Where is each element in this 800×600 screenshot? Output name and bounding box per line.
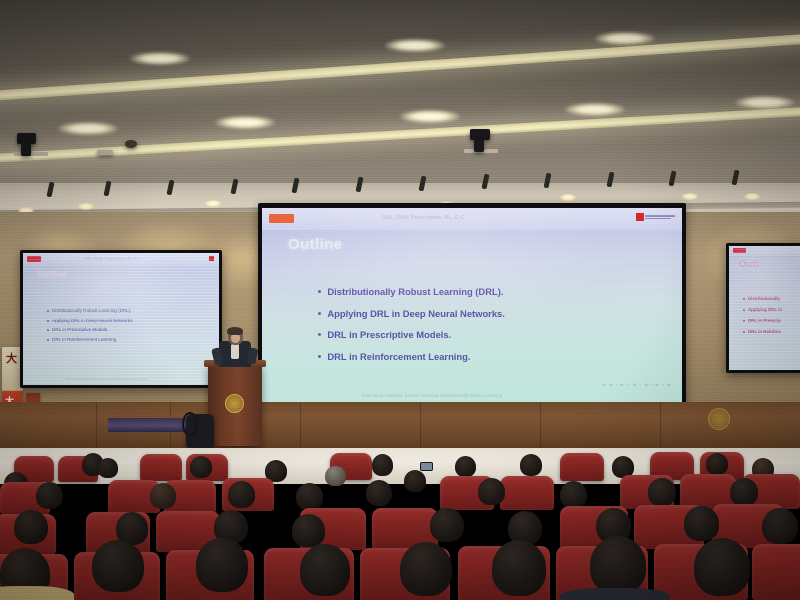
audience-head-foreground	[300, 544, 350, 596]
bullet-text: Distributionally Robust Learning (DRL).	[327, 286, 503, 297]
downlight	[205, 200, 221, 207]
list-item: DRL in Prescrip	[743, 318, 782, 323]
bullet-dot-icon	[743, 309, 745, 311]
bullet-dot-icon	[47, 339, 49, 341]
logo-text-line	[645, 218, 671, 220]
downlight	[744, 193, 760, 200]
list-item: DRL in Reinforcement Learning.	[318, 351, 505, 362]
light-hotspot	[385, 39, 445, 52]
seat[interactable]	[500, 476, 554, 510]
audience-head-foreground	[92, 540, 144, 592]
right-projection-screen-frame: Outl Distributionally Applying DRL in DR…	[726, 243, 800, 373]
audience-head	[430, 508, 464, 542]
audience-head	[648, 478, 676, 506]
audience-head	[98, 458, 118, 478]
left-slide-bullets: Distributionally Robust Learning (DRL). …	[47, 308, 134, 342]
light-hotspot	[58, 122, 118, 135]
list-item: DRL in Reinforc	[743, 329, 782, 334]
backpack-strap	[182, 412, 198, 436]
logo-text-line	[645, 215, 675, 217]
light-hotspot	[400, 110, 460, 123]
main-slide-header-text: DRL, DNN, Prescriptive, RL, E-C	[382, 215, 464, 221]
bullet-text: Distributionally	[748, 296, 780, 301]
audience-shoulders	[560, 588, 670, 600]
bullet-dot-icon	[743, 331, 745, 333]
wood-panel-seam	[540, 402, 541, 454]
audience-head	[150, 483, 176, 509]
list-item: DRL in Prescriptive Models.	[318, 329, 505, 340]
wood-panel-seam	[660, 402, 661, 454]
main-slide: DRL, DNN, Prescriptive, RL, E-C Outline …	[262, 208, 682, 402]
audience-head	[190, 456, 212, 478]
bullet-dot-icon	[743, 298, 745, 300]
ceiling-projector-lens	[21, 143, 31, 156]
bullet-text: DRL in Prescriptive Models.	[52, 327, 109, 332]
bullet-text: DRL in Prescrip	[748, 318, 781, 323]
bullet-dot-icon	[318, 355, 321, 358]
wood-panel-seam	[300, 402, 301, 454]
wood-panel-seam	[96, 402, 97, 454]
wood-panel-seam	[420, 402, 421, 454]
audience-head-foreground	[196, 538, 248, 592]
light-hotspot	[595, 32, 655, 45]
audience-head-foreground	[694, 538, 750, 596]
audience-head	[478, 478, 505, 505]
downlight	[78, 203, 94, 210]
speaker-shirt	[231, 344, 239, 359]
stage-table	[108, 418, 186, 432]
audience-head	[706, 453, 728, 475]
bullet-text: Applying DRL in Deep Neural Networks.	[327, 308, 504, 319]
light-hotspot	[215, 116, 275, 129]
audience-head-foreground	[400, 542, 452, 596]
audience-head-foreground	[492, 540, 546, 596]
wall-emblem	[708, 408, 730, 430]
list-item: Distributionally	[743, 296, 782, 301]
audience-head	[455, 456, 476, 477]
podium-seal-emblem	[225, 394, 244, 413]
lecture-hall-scene: 大 学 大 会 DRL, DNN, Prescriptive, RL, E-C …	[0, 0, 800, 600]
bullet-dot-icon	[743, 320, 745, 322]
bullet-text: Applying DRL in	[748, 307, 782, 312]
audience-shoulders	[0, 586, 74, 600]
audience-area	[0, 448, 800, 600]
light-hotspot	[565, 103, 625, 116]
bullet-dot-icon	[318, 333, 321, 336]
bullet-text: DRL in Reinforcement Learning.	[52, 337, 117, 342]
left-slide-footer: 2/46 Henry Prophets, Boston University D…	[65, 378, 148, 381]
list-item: Applying DRL in	[743, 307, 782, 312]
bullet-dot-icon	[47, 310, 49, 312]
left-slide-title: Outline	[37, 270, 67, 279]
list-item: Applying DRL in Deep Neural Networks.	[47, 318, 134, 323]
ceiling	[0, 0, 800, 200]
left-slide-tab	[27, 256, 41, 262]
light-hotspot	[130, 52, 190, 65]
downlight	[560, 194, 576, 201]
audience-head	[14, 510, 48, 544]
audience-head	[36, 482, 63, 509]
list-item: DRL in Prescriptive Models.	[47, 327, 134, 332]
ceiling-speaker	[125, 140, 137, 148]
bullet-text: Applying DRL in Deep Neural Networks.	[52, 318, 134, 323]
main-projection-screen-frame: DRL, DNN, Prescriptive, RL, E-C Outline …	[258, 203, 686, 407]
left-slide-logo	[209, 256, 214, 261]
main-slide-nav-controls[interactable]: ◀ ◀ ▪ ▶ ▪ ◀ ▪ ◀ ▪ ▶ ▪ ▶	[602, 382, 672, 388]
audience-head	[730, 478, 758, 506]
audience-head	[762, 508, 798, 544]
light-hotspot	[735, 96, 795, 109]
bullet-dot-icon	[318, 290, 321, 293]
audience-head	[684, 506, 719, 541]
ceiling-projector-lens	[474, 139, 484, 152]
main-slide-header	[262, 208, 682, 230]
bullet-text: DRL in Reinforc	[748, 329, 781, 334]
list-item: Distributionally Robust Learning (DRL).	[318, 286, 505, 297]
right-slide-title: Outl	[739, 259, 759, 269]
seat[interactable]	[560, 453, 604, 481]
main-slide-bullets: Distributionally Robust Learning (DRL). …	[318, 286, 505, 362]
bullet-text: DRL in Reinforcement Learning.	[327, 351, 470, 362]
bullet-text: Distributionally Robust Learning (DRL).	[52, 308, 132, 313]
audience-head	[228, 481, 255, 508]
audience-head	[292, 514, 325, 547]
main-slide-title: Outline	[288, 236, 342, 253]
audience-head	[560, 481, 587, 508]
left-slide-header-text: DRL, DNN, Prescriptive, RL, E-C	[85, 257, 141, 261]
audience-head	[520, 454, 542, 476]
downlight	[682, 193, 698, 200]
bullet-dot-icon	[47, 329, 49, 331]
university-logo-icon	[209, 256, 214, 261]
bullet-text: DRL in Prescriptive Models.	[327, 329, 451, 340]
poster-char: 大	[6, 350, 17, 366]
audience-head	[325, 466, 346, 486]
audience-head	[296, 483, 323, 510]
audience-head	[366, 480, 392, 506]
seat[interactable]	[140, 454, 182, 481]
speaker-hair	[227, 327, 243, 335]
left-projection-screen-frame: DRL, DNN, Prescriptive, RL, E-C Outline …	[20, 250, 222, 388]
main-slide-footer: 2/46 Henry Prophets, Boston University D…	[362, 393, 502, 398]
projector-mount-plate	[14, 152, 48, 156]
university-logo-icon	[636, 213, 644, 221]
right-slide-tab	[733, 248, 746, 253]
university-logo-text	[645, 215, 675, 219]
phone-screen	[421, 463, 432, 470]
list-item: DRL in Reinforcement Learning.	[47, 337, 134, 342]
seat[interactable]	[752, 544, 800, 600]
audience-head-photographer	[404, 470, 426, 492]
list-item: Applying DRL in Deep Neural Networks.	[318, 308, 505, 319]
bullet-dot-icon	[47, 320, 49, 322]
main-slide-tab	[269, 214, 294, 223]
right-slide: Outl Distributionally Applying DRL in DR…	[729, 246, 800, 370]
audience-head	[372, 454, 393, 476]
bullet-dot-icon	[318, 312, 321, 315]
main-slide-logo	[636, 213, 676, 221]
left-slide: DRL, DNN, Prescriptive, RL, E-C Outline …	[23, 253, 219, 385]
audience-head-foreground	[590, 536, 646, 594]
right-slide-bullets: Distributionally Applying DRL in DRL in …	[743, 296, 782, 334]
ceiling-vent	[97, 150, 113, 155]
list-item: Distributionally Robust Learning (DRL).	[47, 308, 134, 313]
